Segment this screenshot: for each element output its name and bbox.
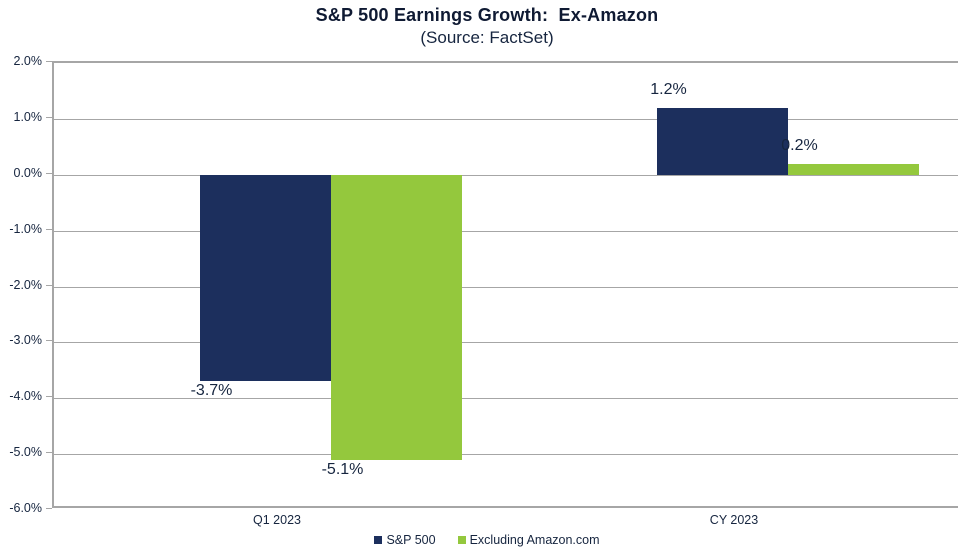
x-axis-label: Q1 2023 [253, 513, 301, 527]
bar-value-label: 1.2% [650, 81, 686, 99]
gridline [54, 287, 958, 288]
bar-sp500 [657, 108, 788, 175]
bar-sp500 [200, 175, 331, 382]
y-axis-tick [46, 452, 52, 453]
bar-ex-amazon [331, 175, 462, 460]
y-axis-label: 2.0% [14, 54, 43, 68]
y-axis-tick [46, 285, 52, 286]
bar-value-label: 0.2% [781, 137, 817, 155]
legend-item-ex-amazon[interactable]: Excluding Amazon.com [458, 533, 600, 547]
y-axis-tick [46, 229, 52, 230]
gridline [54, 398, 958, 399]
y-axis-tick [46, 117, 52, 118]
gridline [54, 231, 958, 232]
gridline [54, 454, 958, 455]
y-axis-label: 0.0% [14, 166, 43, 180]
y-axis-tick [46, 340, 52, 341]
gridline [54, 342, 958, 343]
x-axis-label: CY 2023 [710, 513, 758, 527]
bar-value-label: -5.1% [322, 461, 364, 479]
plot-area [52, 61, 958, 508]
bar-value-label: -3.7% [191, 382, 233, 400]
bar-ex-amazon [788, 164, 919, 175]
chart-subtitle: (Source: FactSet) [0, 27, 974, 48]
y-axis-tick [46, 508, 52, 509]
y-axis-tick [46, 396, 52, 397]
y-axis-label: -6.0% [9, 501, 42, 515]
chart-legend: S&P 500Excluding Amazon.com [0, 533, 974, 547]
y-axis-label: -5.0% [9, 445, 42, 459]
y-axis-label: 1.0% [14, 110, 43, 124]
y-axis-label: -3.0% [9, 333, 42, 347]
legend-item-sp500[interactable]: S&P 500 [374, 533, 435, 547]
chart-title-block: S&P 500 Earnings Growth: Ex-Amazon (Sour… [0, 5, 974, 48]
gridline [54, 119, 958, 120]
y-axis-tick [46, 61, 52, 62]
legend-label: S&P 500 [386, 533, 435, 547]
y-axis-label: -2.0% [9, 278, 42, 292]
y-axis-label: -4.0% [9, 389, 42, 403]
page-title: S&P 500 Earnings Growth: Ex-Amazon [0, 5, 974, 26]
legend-label: Excluding Amazon.com [470, 533, 600, 547]
y-axis-tick [46, 173, 52, 174]
y-axis-label: -1.0% [9, 222, 42, 236]
gridline [54, 175, 958, 176]
legend-swatch-icon [374, 536, 382, 544]
legend-swatch-icon [458, 536, 466, 544]
